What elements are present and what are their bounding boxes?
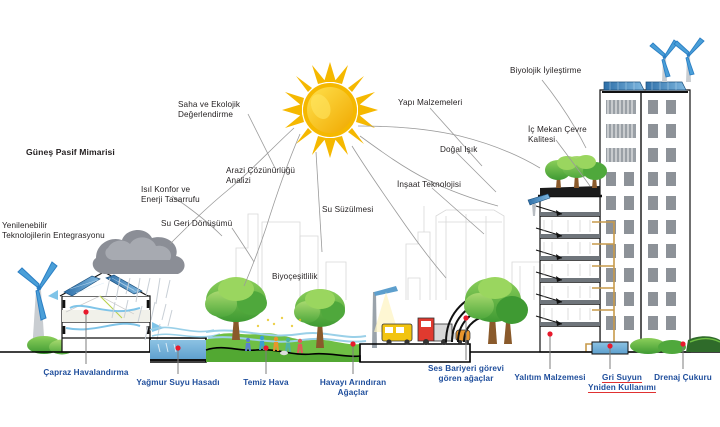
rain-cloud — [93, 230, 185, 274]
label-yalitim-malzemesi: Yalıtım Malzemesi — [509, 373, 591, 383]
label-capraz-havalandirma: Çapraz Havalandırma — [38, 368, 134, 378]
label-havayi-arindiran-agaclar: Havayı Arındıran Ağaçlar — [314, 378, 392, 398]
bus — [382, 324, 412, 345]
left-solar-house — [0, 230, 220, 362]
rooftop-solar-panels — [604, 82, 686, 90]
label-gri-suyun-yeniden: Gri Suyun Yniden Kullanımı — [586, 373, 658, 393]
rooftop-wind-turbines — [650, 38, 704, 82]
label-su-geri-donusumu: Su Geri Dönüşümü — [161, 219, 232, 229]
label-su-suzulmesi: Su Süzülmesi — [322, 205, 373, 215]
label-temiz-hava: Temiz Hava — [238, 378, 294, 388]
label-yapi-malzemeleri: Yapı Malzemeleri — [398, 98, 462, 108]
tower-louvers — [606, 100, 636, 162]
label-biyocesitlilik: Biyoçeşitlilik — [272, 272, 318, 282]
label-drenaj-cukuru: Drenaj Çukuru — [650, 373, 716, 383]
label-biyolojik-iyilestirme: Biyolojik İyileştirme — [510, 66, 581, 76]
label-arazi-cozunurlugu: Arazi Çözünürlüğü Analizi — [226, 166, 295, 187]
label-insaat-teknolojisi: İnşaat Teknolojisi — [397, 180, 461, 190]
infographic-canvas: Güneş Pasif MimarisiYenilenebilir Teknol… — [0, 0, 720, 427]
label-yenilenebilir-teknolojiler: Yenilenebilir Teknolojilerin Entegrasyon… — [2, 221, 105, 242]
label-ic-mekan-cevre: İç Mekan Çevre Kalitesi — [528, 125, 587, 146]
label-dogal-isik: Doğal Işık — [440, 145, 477, 155]
label-saha-ve-ekolojik: Saha ve Ekolojik Değerlendirme — [178, 100, 240, 121]
center-park-scene — [205, 277, 528, 362]
label-yagmur-suyu-hasadi: Yağmur Suyu Hasadı — [133, 378, 223, 388]
label-isil-konfor: Isıl Konfor ve Enerji Tasarrufu — [141, 185, 200, 206]
green-roof-trees — [540, 155, 607, 196]
tree-barrier — [464, 277, 528, 344]
label-ses-bariyeri-agaclar: Ses Bariyeri görevi gören ağaçlar — [422, 364, 510, 384]
label-gunes-pasif-mimarisi: Güneş Pasif Mimarisi — [26, 147, 115, 157]
